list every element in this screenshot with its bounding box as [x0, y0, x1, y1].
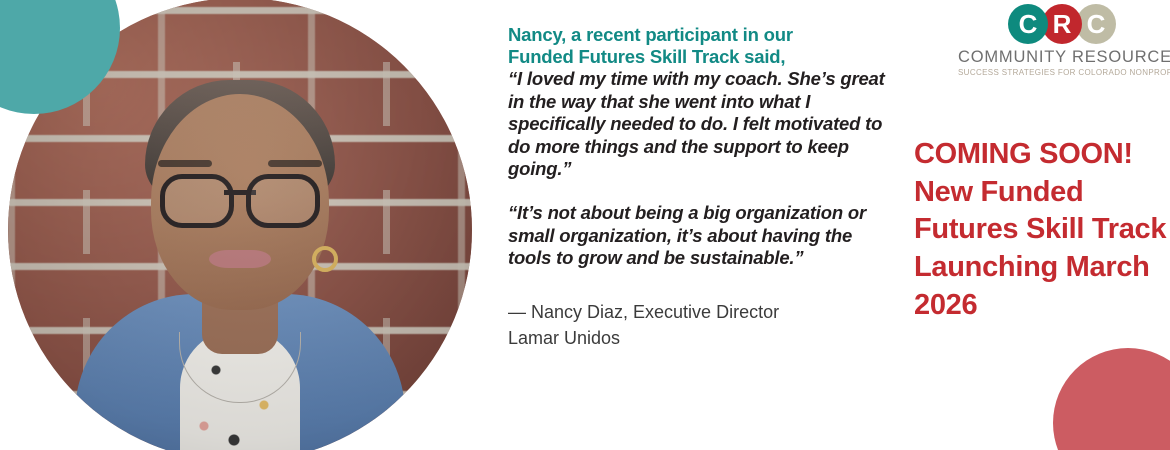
attribution-organization: Lamar Unidos — [508, 328, 620, 348]
logo-circle-teal-c: C — [1008, 4, 1048, 44]
testimonial-block: Nancy, a recent participant in our Funde… — [508, 24, 892, 352]
right-panel: C R C COMMUNITY RESOURCE CENTER SUCCESS … — [906, 0, 1170, 450]
testimonial-quote-two: “It’s not about being a big organization… — [508, 202, 892, 269]
promo-headline: COMING SOON! — [914, 138, 1133, 170]
testimonial-quote-one: “I loved my time with my coach. She’s gr… — [508, 68, 892, 180]
logo-tagline: SUCCESS STRATEGIES FOR COLORADO NONPROFI… — [958, 68, 1170, 77]
testimonial-lead-line-2: Funded Futures Skill Track said, — [508, 46, 785, 67]
attribution-name-title: — Nancy Diaz, Executive Director — [508, 302, 779, 322]
testimonial-attribution: — Nancy Diaz, Executive Director Lamar U… — [508, 269, 892, 351]
logo-organization-name: COMMUNITY RESOURCE CENTER — [958, 48, 1170, 67]
logo-circle-tan-c: C — [1076, 4, 1116, 44]
logo-circles: C R C — [1008, 4, 1120, 44]
logo-circle-red-r: R — [1042, 4, 1082, 44]
promo-text-block: COMING SOON! New Funded Futures Skill Tr… — [914, 136, 1170, 324]
crc-logo: C R C COMMUNITY RESOURCE CENTER SUCCESS … — [958, 4, 1170, 77]
testimonial-lead: Nancy, a recent participant in our Funde… — [508, 24, 892, 68]
promo-body: New Funded Futures Skill Track Launching… — [914, 176, 1166, 321]
promo-banner: Nancy, a recent participant in our Funde… — [0, 0, 1170, 450]
testimonial-lead-line-1: Nancy, a recent participant in our — [508, 24, 793, 45]
